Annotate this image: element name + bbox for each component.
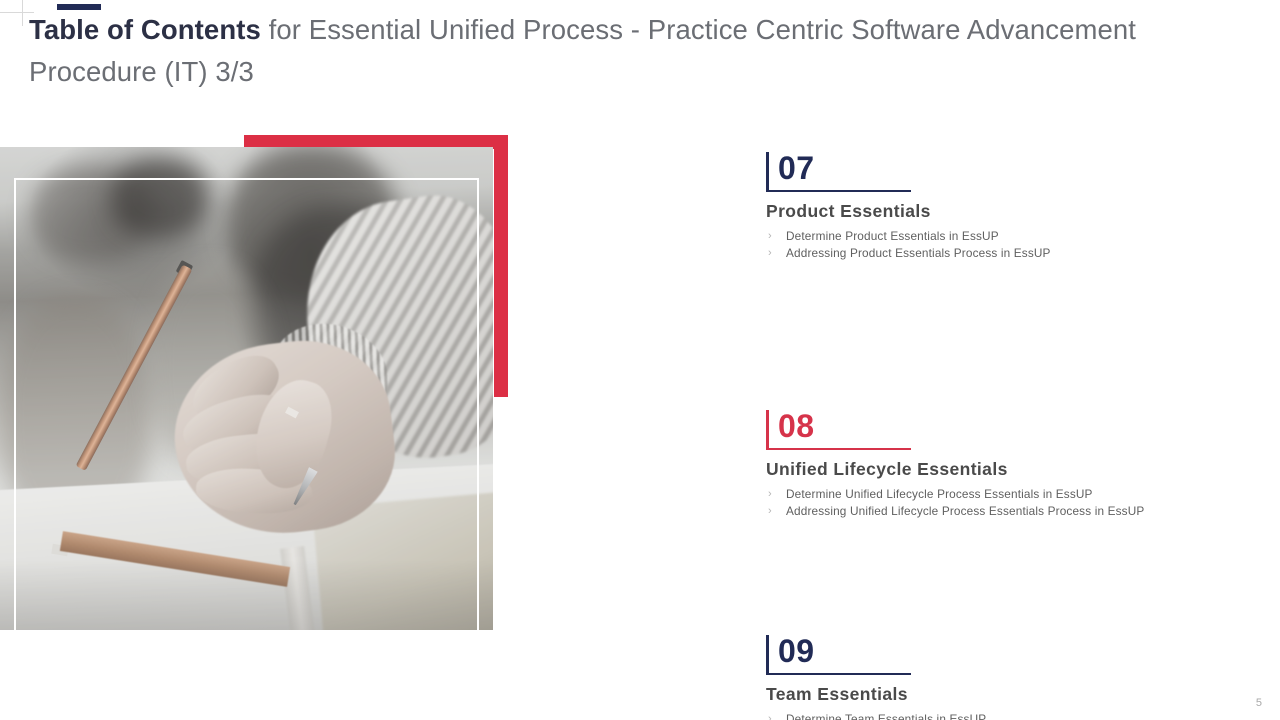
chevron-right-icon: ›	[768, 245, 772, 262]
toc-number-underline	[766, 673, 911, 675]
list-item-text: Determine Unified Lifecycle Process Esse…	[786, 487, 1093, 501]
toc-number: 08	[778, 404, 815, 448]
toc-number-underline	[766, 190, 911, 192]
list-item: ›Addressing Unified Lifecycle Process Es…	[766, 503, 1236, 520]
page-title-strong: Table of Contents	[29, 14, 261, 45]
photo-block	[0, 130, 512, 635]
toc-bullet-list: ›Determine Product Essentials in EssUP ›…	[766, 228, 1236, 261]
toc-heading: Unified Lifecycle Essentials	[766, 459, 1236, 480]
page-number: 5	[1256, 697, 1262, 709]
list-item: ›Determine Unified Lifecycle Process Ess…	[766, 486, 1236, 503]
toc-number-row: 07	[766, 150, 1236, 192]
toc-item-08[interactable]: 08 Unified Lifecycle Essentials ›Determi…	[766, 408, 1236, 519]
list-item: ›Determine Product Essentials in EssUP	[766, 228, 1236, 245]
toc-number-accent-bar	[766, 635, 769, 673]
slide-canvas: Table of Contents for Essential Unified …	[0, 0, 1280, 720]
chevron-right-icon: ›	[768, 228, 772, 245]
photo-desaturate-overlay	[0, 147, 493, 630]
toc-number-row: 08	[766, 408, 1236, 450]
toc-item-09[interactable]: 09 Team Essentials ›Determine Team Essen…	[766, 633, 1236, 720]
list-item: ›Determine Team Essentials in EssUP	[766, 711, 1236, 720]
toc-number: 09	[778, 629, 815, 673]
toc-item-07[interactable]: 07 Product Essentials ›Determine Product…	[766, 150, 1236, 261]
toc-number-underline	[766, 448, 911, 450]
toc-number-accent-bar	[766, 410, 769, 448]
crosshair-vertical-line	[22, 0, 23, 26]
toc-number-accent-bar	[766, 152, 769, 190]
toc-bullet-list: ›Determine Unified Lifecycle Process Ess…	[766, 486, 1236, 519]
toc-heading: Product Essentials	[766, 201, 1236, 222]
photo-image	[0, 147, 493, 630]
list-item-text: Addressing Product Essentials Process in…	[786, 246, 1051, 260]
list-item: ›Addressing Product Essentials Process i…	[766, 245, 1236, 262]
toc-list: 07 Product Essentials ›Determine Product…	[766, 150, 1236, 720]
chevron-right-icon: ›	[768, 711, 772, 720]
list-item-text: Determine Team Essentials in EssUP	[786, 712, 986, 720]
toc-heading: Team Essentials	[766, 684, 1236, 705]
chevron-right-icon: ›	[768, 486, 772, 503]
chevron-right-icon: ›	[768, 503, 772, 520]
toc-bullet-list: ›Determine Team Essentials in EssUP ›Add…	[766, 711, 1236, 720]
list-item-text: Determine Product Essentials in EssUP	[786, 229, 999, 243]
page-title: Table of Contents for Essential Unified …	[29, 9, 1209, 93]
toc-number-row: 09	[766, 633, 1236, 675]
list-item-text: Addressing Unified Lifecycle Process Ess…	[786, 504, 1144, 518]
toc-number: 07	[778, 146, 815, 190]
